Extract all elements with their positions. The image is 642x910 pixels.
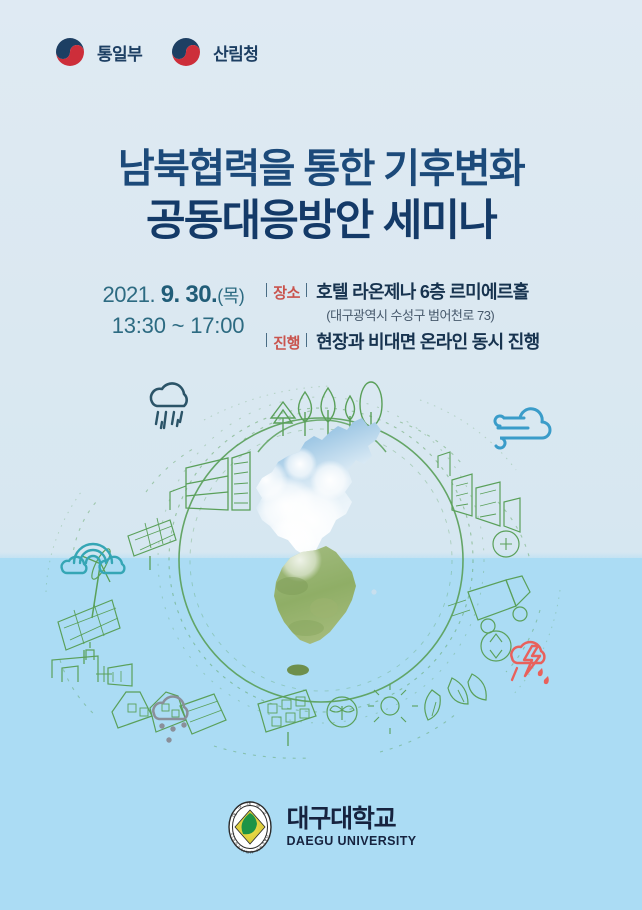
wind-cloud-icon [484,404,554,458]
date-year: 2021. [103,282,156,307]
venue-label: 장소 [266,282,307,303]
venue-row: 장소 호텔 라온제나 6층 르미에르홀 [266,278,539,304]
date-month: 9. [161,281,180,308]
daegu-university-emblem: 대 구 대 학 교 DAEGU UNIVERSITY [225,800,275,854]
rainbow-cloud-icon [56,523,130,579]
date-day: 30. [185,281,217,308]
ring-leaves-group [425,674,486,720]
government-logos: 통일부 산림청 [52,34,258,70]
date-day-of-week: (목) [217,286,244,306]
format-row: 진행 현장과 비대면 온라인 동시 진행 [266,328,539,354]
title-line-2: 공동대응방안 세미나 [0,196,642,247]
format-label: 진행 [266,332,307,353]
seminar-poster: 통일부 산림청 남북협력을 통한 기후변화 공동대응방안 세미나 2021. 9… [0,0,642,910]
poster-title: 남북협력을 통한 기후변화 공동대응방안 세미나 [0,146,642,247]
university-name-block: 대구대학교 DAEGU UNIVERSITY [286,807,416,848]
event-datetime: 2021. 9. 30.(목) 13:30 ~ 17:00 [103,277,245,340]
gov-logo-label: 산림청 [213,40,258,65]
daegu-university-logo: 대 구 대 학 교 DAEGU UNIVERSITY 대구대학교 DAEGU U… [0,800,642,854]
event-date: 2021. 9. 30.(목) [103,279,245,311]
ring-city-left-lower-group [52,642,132,686]
ulleungdo-island [371,589,376,594]
title-line-1: 남북협력을 통한 기후변화 [0,146,642,193]
event-info-bar: 2021. 9. 30.(목) 13:30 ~ 17:00 장소 호텔 라온제나… [0,277,642,354]
gov-logo-forest-service: 산림청 [168,34,258,70]
taegeuk-icon [168,34,204,70]
venue-value: 호텔 라온제나 6층 르미에르홀 [316,278,529,304]
central-illustration [0,360,642,760]
rain-cloud-icon [136,372,200,436]
taegeuk-icon [52,34,88,70]
event-time: 13:30 ~ 17:00 [103,311,245,341]
university-name-en: DAEGU UNIVERSITY [286,835,416,848]
jeju-island [287,665,309,676]
format-value: 현장과 비대면 온라인 동시 진행 [316,328,539,354]
gov-logo-unification-ministry: 통일부 [52,34,142,70]
ring-buildings-left-group [170,452,250,510]
thunderstorm-icon [498,632,564,694]
venue-address: (대구광역시 수성구 범어천로 73) [326,305,539,324]
university-name-ko: 대구대학교 [286,807,416,832]
event-location-block: 장소 호텔 라온제나 6층 르미에르홀 (대구광역시 수성구 범어천로 73) … [266,277,539,354]
gov-logo-label: 통일부 [97,40,142,65]
korean-peninsula-map [240,410,400,676]
snow-cloud-icon [142,688,208,748]
